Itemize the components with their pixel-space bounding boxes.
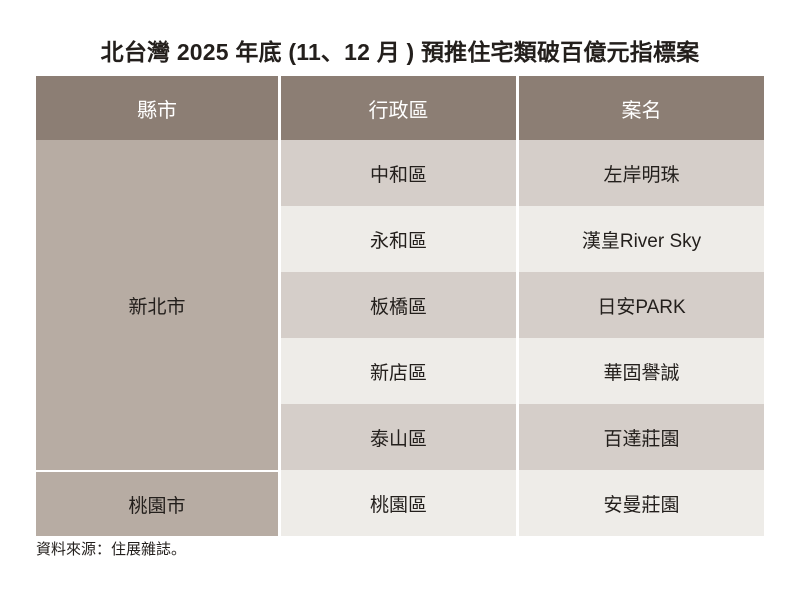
- column-header-project: 案名: [519, 76, 764, 140]
- district-cell: 泰山區: [281, 404, 516, 470]
- table-row: 板橋區 日安PARK: [281, 272, 764, 338]
- column-header-city: 縣市: [36, 76, 278, 140]
- city-column: 新北市 桃園市: [36, 140, 278, 536]
- district-cell: 永和區: [281, 206, 516, 272]
- table-row: 永和區 漢皇River Sky: [281, 206, 764, 272]
- data-table: 縣市 行政區 案名 新北市 桃園市 中和區 左岸明珠 永和區: [36, 76, 764, 536]
- project-cell: 漢皇River Sky: [519, 206, 764, 272]
- project-cell: 日安PARK: [519, 272, 764, 338]
- table-body: 新北市 桃園市 中和區 左岸明珠 永和區 漢皇River Sky 板橋區: [36, 140, 764, 536]
- district-cell: 中和區: [281, 140, 516, 206]
- table-row: 桃園區 安曼莊園: [281, 470, 764, 536]
- source-note: 資料來源：住展雜誌。: [36, 538, 186, 559]
- table-row: 中和區 左岸明珠: [281, 140, 764, 206]
- page-title: 北台灣 2025 年底 (11、12 月 ) 預推住宅類破百億元指標案: [36, 33, 764, 67]
- table-row: 泰山區 百達莊園: [281, 404, 764, 470]
- district-project-columns: 中和區 左岸明珠 永和區 漢皇River Sky 板橋區 日安PARK 新店區: [281, 140, 764, 536]
- column-header-district: 行政區: [281, 76, 516, 140]
- district-cell: 板橋區: [281, 272, 516, 338]
- district-cell: 新店區: [281, 338, 516, 404]
- city-cell-taoyuan: 桃園市: [36, 470, 278, 536]
- table-header-row: 縣市 行政區 案名: [36, 76, 764, 140]
- table-figure: 北台灣 2025 年底 (11、12 月 ) 預推住宅類破百億元指標案 縣市 行…: [0, 0, 800, 600]
- project-cell: 華固譽誠: [519, 338, 764, 404]
- project-cell: 安曼莊園: [519, 470, 764, 536]
- city-cell-new-taipei: 新北市: [36, 140, 278, 470]
- table-row: 新店區 華固譽誠: [281, 338, 764, 404]
- district-cell: 桃園區: [281, 470, 516, 536]
- project-cell: 左岸明珠: [519, 140, 764, 206]
- project-cell: 百達莊園: [519, 404, 764, 470]
